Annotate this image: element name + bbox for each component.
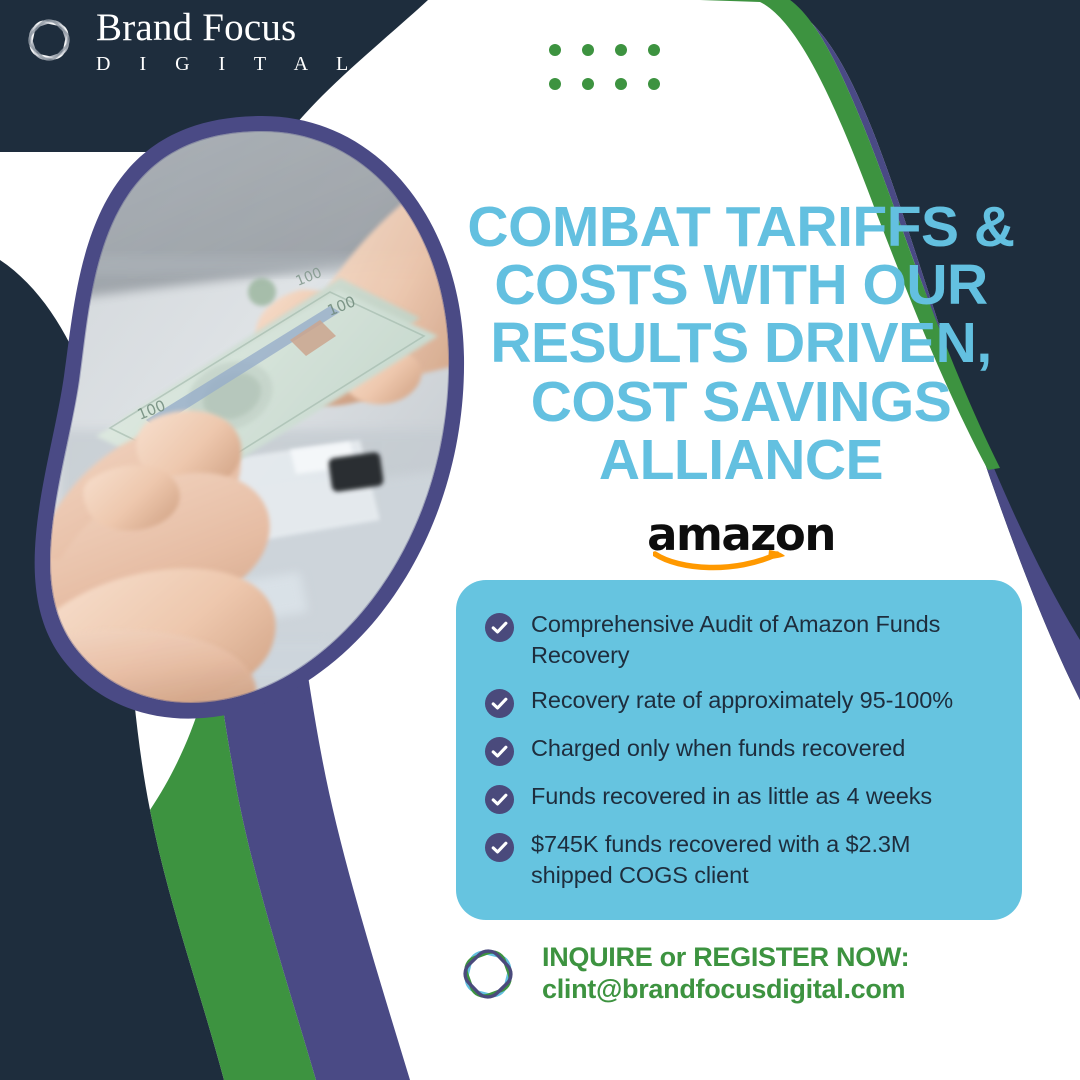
dot (648, 44, 660, 56)
check-circle-icon (484, 784, 515, 815)
amazon-logo: amazon (452, 512, 1030, 571)
brand-logo: Brand Focus D I G I T A L (18, 8, 360, 74)
amazon-swoosh-icon (653, 549, 789, 573)
cta-email-link[interactable]: clint@brandfocusdigital.com (542, 974, 909, 1006)
check-circle-icon (484, 736, 515, 767)
dot-grid-decoration (549, 44, 660, 90)
dot (582, 44, 594, 56)
interlocking-rings-logo-icon (18, 9, 82, 73)
list-item: Funds recovered in as little as 4 weeks (484, 781, 992, 815)
benefit-text: $745K funds recovered with a $2.3M shipp… (531, 829, 992, 891)
check-circle-icon (484, 832, 515, 863)
poster-canvas: 100 100 100 (0, 0, 1080, 1080)
interlocking-rings-logo-icon (452, 938, 524, 1010)
dot (648, 78, 660, 90)
benefit-text: Recovery rate of approximately 95-100% (531, 685, 953, 716)
dot (549, 78, 561, 90)
benefit-text: Funds recovered in as little as 4 weeks (531, 781, 932, 812)
brand-subtitle: D I G I T A L (96, 54, 360, 74)
dot (549, 44, 561, 56)
dot (615, 44, 627, 56)
benefit-text: Comprehensive Audit of Amazon Funds Reco… (531, 609, 992, 671)
benefit-text: Charged only when funds recovered (531, 733, 905, 764)
dot (615, 78, 627, 90)
list-item: $745K funds recovered with a $2.3M shipp… (484, 829, 992, 891)
page-title: COMBAT TARIFFS & COSTS WITH OUR RESULTS … (452, 198, 1030, 489)
benefits-panel: Comprehensive Audit of Amazon Funds Reco… (456, 580, 1022, 920)
cta-block[interactable]: INQUIRE or REGISTER NOW: clint@brandfocu… (452, 938, 909, 1010)
list-item: Charged only when funds recovered (484, 733, 992, 767)
list-item: Comprehensive Audit of Amazon Funds Reco… (484, 609, 992, 671)
check-circle-icon (484, 612, 515, 643)
check-circle-icon (484, 688, 515, 719)
dot (582, 78, 594, 90)
list-item: Recovery rate of approximately 95-100% (484, 685, 992, 719)
brand-title: Brand Focus (96, 8, 360, 47)
cta-headline: INQUIRE or REGISTER NOW: (542, 942, 909, 974)
